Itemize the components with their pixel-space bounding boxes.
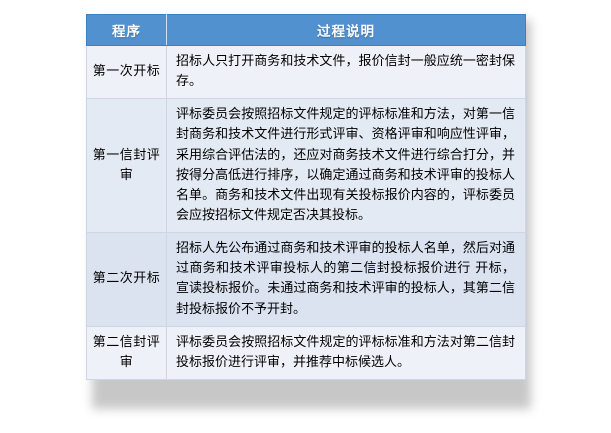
column-header-step: 程序 xyxy=(87,15,167,46)
table-header: 程序 过程说明 xyxy=(87,15,526,46)
cell-description: 评标委员会按照招标文件规定的评标标准和方法，对第一信封商务和技术文件进行形式评审… xyxy=(167,99,526,233)
page-root: 程序 过程说明 第一次开标 招标人只打开商务和技术文件，报价信封一般应统一密封保… xyxy=(0,0,611,433)
cell-description: 评标委员会按照招标文件规定的评标标准和方法对第二信封投标报价进行评审，并推荐中标… xyxy=(167,326,526,379)
table-row: 第一信封评审 评标委员会按照招标文件规定的评标标准和方法，对第一信封商务和技术文… xyxy=(87,99,526,233)
table-body: 第一次开标 招标人只打开商务和技术文件，报价信封一般应统一密封保存。 第一信封评… xyxy=(87,46,526,380)
cell-step: 第一次开标 xyxy=(87,46,167,99)
cell-step: 第一信封评审 xyxy=(87,99,167,233)
table-row: 第二次开标 招标人先公布通过商务和技术评审的投标人名单，然后对通过商务和技术评审… xyxy=(87,233,526,327)
table-header-row: 程序 过程说明 xyxy=(87,15,526,46)
cell-description: 招标人只打开商务和技术文件，报价信封一般应统一密封保存。 xyxy=(167,46,526,99)
cell-step: 第二信封评审 xyxy=(87,326,167,379)
table-row: 第一次开标 招标人只打开商务和技术文件，报价信封一般应统一密封保存。 xyxy=(87,46,526,99)
column-header-description: 过程说明 xyxy=(167,15,526,46)
cell-description: 招标人先公布通过商务和技术评审的投标人名单，然后对通过商务和技术评审投标人的第二… xyxy=(167,233,526,327)
cell-step: 第二次开标 xyxy=(87,233,167,327)
table-row: 第二信封评审 评标委员会按照招标文件规定的评标标准和方法对第二信封投标报价进行评… xyxy=(87,326,526,379)
process-table: 程序 过程说明 第一次开标 招标人只打开商务和技术文件，报价信封一般应统一密封保… xyxy=(86,14,526,380)
